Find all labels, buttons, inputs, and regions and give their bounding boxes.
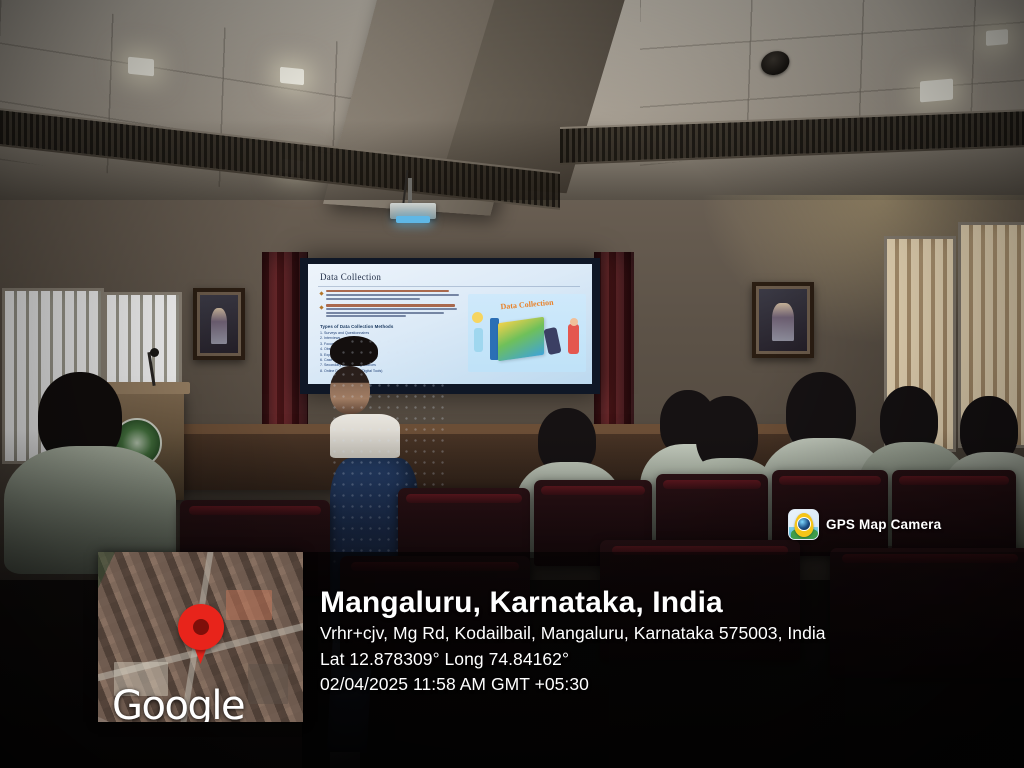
bullet-marker-icon [319, 291, 323, 295]
gps-timestamp-line: 02/04/2025 11:58 AM GMT +05:30 [320, 672, 1020, 698]
slide-bullet [320, 290, 460, 301]
slide-artwork: Data Collection [468, 294, 586, 372]
photo-canvas: Data Collection Types of Data Collection… [0, 0, 1024, 768]
slide-artwork-title: Data Collection [500, 298, 554, 312]
gps-coordinates-line: Lat 12.878309° Long 74.84162° [320, 647, 1020, 673]
gps-map-camera-icon [788, 509, 819, 540]
microphone-head-icon [150, 348, 159, 357]
slide-list-heading: Types of Data Collection Methods [320, 324, 460, 329]
ceiling-light-1 [128, 57, 154, 77]
artwork-person-right-head [570, 318, 578, 326]
gps-map-camera-label: GPS Map Camera [826, 517, 941, 532]
audience-member [14, 372, 164, 572]
gps-overlay-panel: Google Mangaluru, Karnataka, India Vrhr+… [0, 548, 1024, 768]
gps-map-camera-badge: GPS Map Camera [788, 509, 941, 540]
gps-city-line: Mangaluru, Karnataka, India [320, 586, 1020, 621]
map-building [226, 590, 272, 620]
artwork-person-right [568, 324, 579, 354]
artwork-sun-icon [472, 312, 483, 323]
slide-title: Data Collection [320, 272, 381, 282]
map-building [248, 664, 288, 704]
artwork-person-left [474, 328, 483, 352]
map-location-pin-icon [178, 604, 224, 666]
gps-info-block: Mangaluru, Karnataka, India Vrhr+cjv, Mg… [320, 586, 1020, 698]
artwork-person-center [543, 327, 561, 355]
bullet-marker-icon [319, 306, 323, 310]
ceiling-shadow [0, 120, 1024, 200]
artwork-book [498, 317, 544, 361]
projector-mount [408, 178, 412, 206]
slide-bullet [320, 304, 460, 319]
ceiling-light-6 [986, 29, 1008, 46]
wall-portrait-right [752, 282, 814, 358]
wall-portrait-left [193, 288, 245, 360]
ceiling-light-2 [280, 67, 304, 86]
ceiling-projector [390, 203, 436, 219]
projector-lens-icon [396, 216, 430, 223]
gps-map-thumbnail[interactable]: Google [98, 552, 303, 722]
google-watermark: Google [112, 686, 244, 722]
gps-address-line: Vrhr+cjv, Mg Rd, Kodailbail, Mangaluru, … [320, 621, 1020, 647]
ceiling-light-5 [920, 79, 953, 103]
